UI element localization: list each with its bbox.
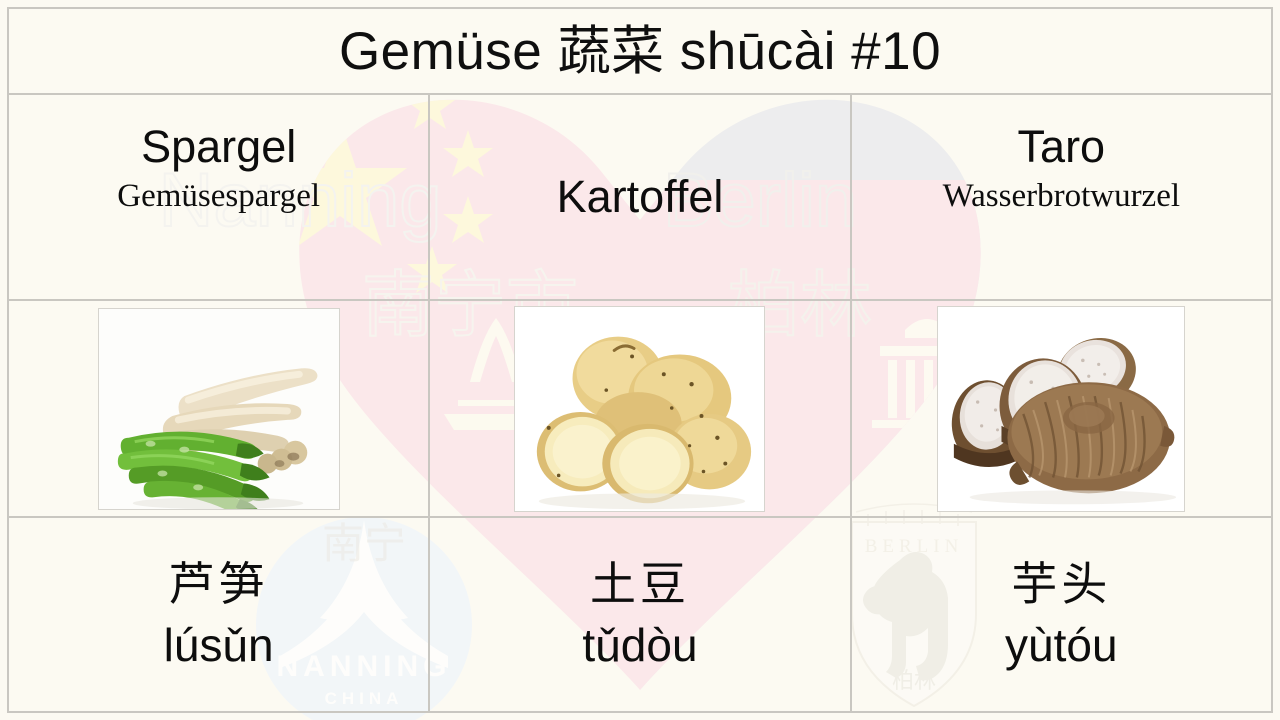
asparagus-photo [98, 308, 340, 510]
scientific-name: Wasserbrotwurzel [943, 178, 1180, 216]
pinyin: yùtóu [1005, 621, 1118, 669]
hanzi: 土豆 [590, 560, 690, 608]
german-name: Spargel [141, 123, 296, 172]
hanzi: 芋头 [1011, 560, 1111, 608]
cell-photo-potato[interactable] [428, 301, 849, 516]
cell-german-taro[interactable]: Taro Wasserbrotwurzel [850, 95, 1271, 299]
hanzi: 芦笋 [169, 560, 269, 608]
taro-photo [937, 306, 1185, 512]
german-name: Taro [1018, 123, 1106, 172]
vocabulary-table: Gemüse 蔬菜 shūcài #10 Spargel Gemüsesparg… [7, 7, 1273, 713]
title-row: Gemüse 蔬菜 shūcài #10 [9, 9, 1271, 95]
cell-german-spargel[interactable]: Spargel Gemüsespargel [9, 95, 428, 299]
pinyin: lúsǔn [164, 621, 274, 669]
cell-photo-taro[interactable] [850, 301, 1271, 516]
page-title: Gemüse 蔬菜 shūcài #10 [339, 25, 941, 78]
german-names-row: Spargel Gemüsespargel Kartoffel Taro Was… [9, 95, 1271, 301]
cell-german-kartoffel[interactable]: Kartoffel [428, 95, 849, 299]
cell-photo-asparagus[interactable] [9, 301, 428, 516]
potato-photo [514, 306, 765, 512]
photos-row [9, 301, 1271, 518]
german-name: Kartoffel [557, 173, 724, 222]
pinyin: tǔdòu [582, 621, 697, 669]
cell-chinese-yutou[interactable]: 芋头 yùtóu [850, 518, 1271, 711]
cell-chinese-lusun[interactable]: 芦笋 lúsǔn [9, 518, 428, 711]
scientific-name: Gemüsespargel [117, 178, 320, 216]
cell-chinese-tudou[interactable]: 土豆 tǔdòu [428, 518, 849, 711]
chinese-names-row: 芦笋 lúsǔn 土豆 tǔdòu 芋头 yùtóu [9, 518, 1271, 711]
flashcard-page: Nanning Berlin 南宁市 柏林 南宁 NANNING CHINA [0, 0, 1280, 720]
